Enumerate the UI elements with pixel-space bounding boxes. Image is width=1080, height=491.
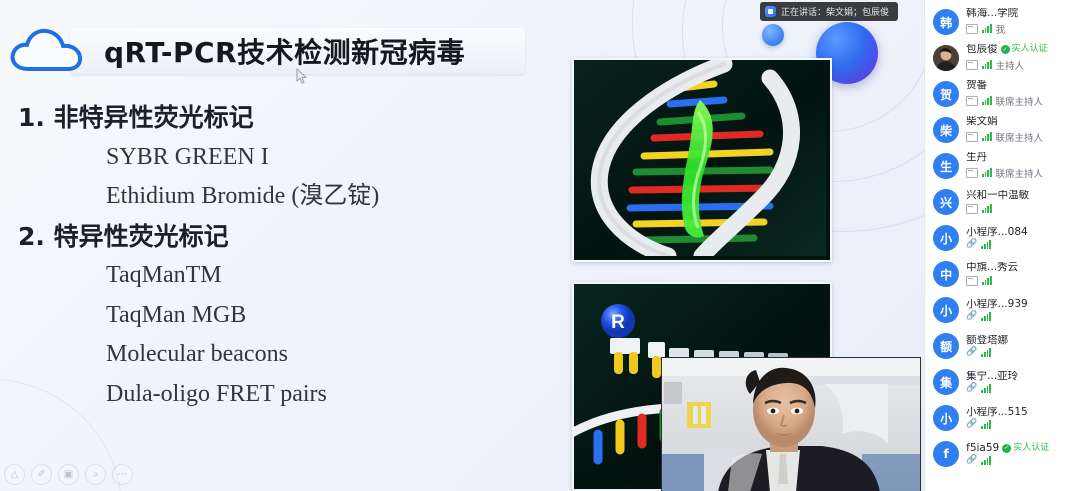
avatar: 贺: [933, 81, 959, 107]
link-icon: 🔗: [966, 384, 977, 393]
probe-reporter-label: R: [611, 312, 625, 333]
participant-name: 小程序...939: [966, 299, 1028, 311]
meeting-screen-share-window: qRT-PCR技术检测新冠病毒 1. 非特异性荧光标记 SYBR GREEN I…: [0, 0, 1080, 491]
participant-row[interactable]: 中 中旗...秀云: [925, 256, 1080, 292]
avatar: 兴: [933, 189, 959, 215]
participant-role: 主持人: [996, 58, 1025, 72]
avatar: 韩: [933, 9, 959, 35]
pen-tool-icon: ✐: [37, 469, 45, 480]
more-options-icon: ⋯: [118, 469, 128, 480]
avatar: 中: [933, 261, 959, 287]
participant-name: 包辰俊: [966, 44, 998, 56]
dna-helix-sybr-green-image: [572, 58, 832, 262]
participant-role: 联席主持人: [996, 94, 1044, 108]
participant-info: 小程序...939 🔗: [966, 299, 1074, 322]
slide-bullet-l2: TaqMan MGB: [106, 298, 558, 334]
slide-body: 1. 非特异性荧光标记 SYBR GREEN I Ethidium Bromid…: [18, 100, 558, 416]
active-speaker-banner: 正在讲话：柴文娟；包辰俊: [760, 2, 898, 21]
screenshot-button[interactable]: ▣: [58, 464, 79, 485]
signal-strength-icon: [981, 456, 990, 465]
cloud-icon: [8, 25, 92, 77]
participant-info: 柴文娟 联席主持人: [966, 116, 1074, 144]
participant-row[interactable]: 生 生丹 联席主持人: [925, 148, 1080, 184]
signal-strength-icon: [982, 276, 991, 285]
shared-content-stage: qRT-PCR技术检测新冠病毒 1. 非特异性荧光标记 SYBR GREEN I…: [0, 0, 924, 491]
participant-info: 韩海...学院 我: [966, 8, 1074, 36]
link-icon: 🔗: [966, 348, 977, 357]
avatar: 生: [933, 153, 959, 179]
mouse-cursor-icon: [296, 68, 308, 90]
participant-row[interactable]: f f5ia59 ✓ 实人认证 🔗: [925, 436, 1080, 472]
active-speaker-text: 正在讲话：柴文娟；包辰俊: [781, 5, 889, 18]
participant-name: 小程序...084: [966, 227, 1028, 239]
mute-icon: [966, 276, 978, 286]
signal-strength-icon: [982, 168, 991, 177]
signal-strength-icon: [982, 132, 991, 141]
screenshot-icon: ▣: [64, 469, 73, 480]
signal-strength-icon: [981, 240, 990, 249]
participant-name: 小程序...515: [966, 407, 1028, 419]
participants-list: 韩 韩海...学院 我: [925, 0, 1080, 472]
participant-name: 生丹: [966, 152, 987, 164]
participant-info: 集宁...亚玲 🔗: [966, 371, 1074, 394]
verified-check-icon: ✓: [1002, 444, 1011, 453]
slide-title-row: qRT-PCR技术检测新冠病毒: [8, 24, 465, 78]
avatar: 额: [933, 333, 959, 359]
avatar: 小: [933, 297, 959, 323]
avatar: 小: [933, 405, 959, 431]
link-icon: 🔗: [966, 420, 977, 429]
avatar: 柴: [933, 117, 959, 143]
participant-info: 中旗...秀云: [966, 262, 1074, 286]
signal-strength-icon: [982, 60, 991, 69]
participant-info: 兴和一中温敏: [966, 190, 1074, 214]
participant-info: 包辰俊 ✓ 实人认证 主持人: [966, 44, 1074, 72]
slide-bullet-l2: SYBR GREEN I: [106, 140, 558, 176]
participant-info: f5ia59 ✓ 实人认证 🔗: [966, 443, 1074, 466]
signal-strength-icon: [981, 312, 990, 321]
mute-icon: [966, 168, 978, 178]
slide-title: qRT-PCR技术检测新冠病毒: [104, 31, 465, 71]
slide-bullet-l2: Dula-oligo FRET pairs: [106, 377, 558, 413]
select-tool-icon: △: [11, 469, 19, 480]
participants-panel[interactable]: 韩 韩海...学院 我: [924, 0, 1080, 491]
participant-role: 我: [996, 22, 1006, 36]
slide-bullet-l2: TaqManTM: [106, 258, 558, 294]
participant-row[interactable]: 额 额登塔娜 🔗: [925, 328, 1080, 364]
mute-icon: [966, 204, 978, 214]
signal-strength-icon: [982, 204, 991, 213]
signal-strength-icon: [981, 420, 990, 429]
select-tool-button[interactable]: △: [4, 464, 25, 485]
signal-strength-icon: [981, 348, 990, 357]
slide-bullet-l2: Molecular beacons: [106, 337, 558, 373]
zoom-tool-icon: ⌕: [93, 469, 99, 480]
mute-icon: [966, 60, 978, 70]
participant-row[interactable]: 小 小程序...515 🔗: [925, 400, 1080, 436]
participant-name: 集宁...亚玲: [966, 371, 1018, 383]
participant-role: 联席主持人: [996, 130, 1044, 144]
participant-row[interactable]: 韩 韩海...学院 我: [925, 4, 1080, 40]
participant-row[interactable]: 柴 柴文娟 联席主持人: [925, 112, 1080, 148]
participant-info: 额登塔娜 🔗: [966, 335, 1074, 358]
verified-badge: ✓ 实人认证: [1001, 45, 1048, 55]
participant-row[interactable]: 小 小程序...084 🔗: [925, 220, 1080, 256]
zoom-tool-button[interactable]: ⌕: [85, 464, 106, 485]
link-icon: 🔗: [966, 240, 977, 249]
signal-strength-icon: [982, 24, 991, 33]
participant-name: 贺番: [966, 80, 987, 92]
participant-name: 兴和一中温敏: [966, 190, 1029, 202]
presenter-annotation-toolbar[interactable]: △ ✐ ▣ ⌕ ⋯: [4, 464, 133, 485]
avatar: f: [933, 441, 959, 467]
mute-icon: [966, 24, 978, 34]
participant-name: 韩海...学院: [966, 8, 1018, 20]
avatar: 集: [933, 369, 959, 395]
participant-name: 柴文娟: [966, 116, 998, 128]
participant-name: 中旗...秀云: [966, 262, 1018, 274]
avatar: 小: [933, 225, 959, 251]
participant-row[interactable]: 集 集宁...亚玲 🔗: [925, 364, 1080, 400]
mute-icon: [966, 132, 978, 142]
participant-role: 联席主持人: [996, 166, 1044, 180]
participant-row[interactable]: 兴 兴和一中温敏: [925, 184, 1080, 220]
speaking-indicator-icon: [765, 6, 776, 17]
verified-badge: ✓ 实人认证: [1002, 444, 1049, 454]
participant-info: 生丹 联席主持人: [966, 152, 1074, 180]
participant-info: 小程序...084 🔗: [966, 227, 1074, 250]
link-icon: 🔗: [966, 312, 977, 321]
mute-icon: [966, 96, 978, 106]
signal-strength-icon: [982, 96, 991, 105]
more-options-button[interactable]: ⋯: [112, 464, 133, 485]
verified-text: 实人认证: [1012, 45, 1048, 55]
participant-info: 贺番 联席主持人: [966, 80, 1074, 108]
signal-strength-icon: [981, 384, 990, 393]
verified-text: 实人认证: [1013, 444, 1049, 454]
participant-row[interactable]: 贺 贺番 联席主持人: [925, 76, 1080, 112]
participant-row[interactable]: 包辰俊 ✓ 实人认证 主持人: [925, 40, 1080, 76]
slide-bullet-l1: 1. 非特异性荧光标记: [18, 100, 558, 136]
pen-tool-button[interactable]: ✐: [31, 464, 52, 485]
verified-check-icon: ✓: [1001, 45, 1010, 54]
slide-bullet-l2: Ethidium Bromide (溴乙锭): [106, 179, 558, 215]
link-icon: 🔗: [966, 456, 977, 465]
participant-name: 额登塔娜: [966, 335, 1008, 347]
slide-bullet-l1: 2. 特异性荧光标记: [18, 219, 558, 255]
decor-gradient-circle-small: [762, 24, 784, 46]
participant-name: f5ia59: [966, 443, 999, 455]
avatar: [933, 45, 959, 71]
participant-row[interactable]: 小 小程序...939 🔗: [925, 292, 1080, 328]
self-video-thumbnail[interactable]: [661, 357, 921, 491]
participant-info: 小程序...515 🔗: [966, 407, 1074, 430]
